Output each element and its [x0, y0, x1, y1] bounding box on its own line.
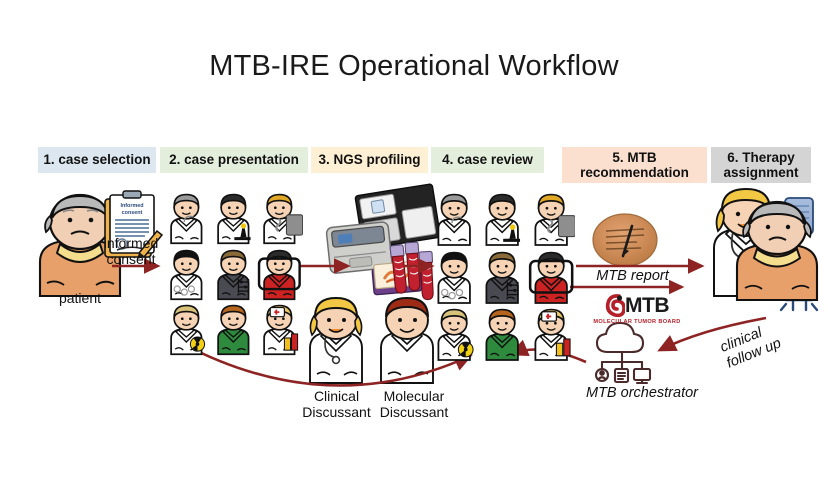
molecular-discussant-icon — [381, 298, 433, 383]
tumor-board-member-nurse — [256, 301, 303, 357]
svg-text:consent: consent — [122, 210, 143, 216]
tumor-board-member-telemedicine-clinician — [256, 246, 303, 302]
tumor-board-member — [478, 248, 526, 306]
mtb-orchestrator-label: MTB orchestrator — [562, 385, 722, 402]
tumor-board-member — [527, 305, 575, 363]
tumor-board-member — [478, 190, 526, 248]
tumor-board-member-data-analyst — [478, 248, 526, 306]
tumor-board-member — [430, 305, 478, 363]
clinical-discussant-icon — [310, 298, 362, 383]
tumor-board-member — [256, 246, 303, 302]
tumor-board-member — [210, 246, 257, 302]
tumor-board-member-nurse — [527, 305, 575, 363]
mtb-logo-mark — [605, 294, 625, 318]
tumor-board-member-microscopist — [478, 190, 526, 248]
mtb-logo-text: MTB — [625, 294, 669, 318]
mtb-logo-subtitle: MOLECULAR TUMOR BOARD — [578, 319, 696, 325]
ngs-sequencer-icon — [326, 184, 440, 300]
tumor-board-member — [430, 190, 478, 248]
tumor-board-member — [210, 301, 257, 357]
tumor-board-member — [527, 248, 575, 306]
tumor-board-member-surgeon — [478, 305, 526, 363]
tumor-board-member-data-analyst — [210, 246, 257, 302]
tumor-board-member-geneticist — [256, 190, 303, 246]
molecular-discussant-label: Molecular Discussant — [366, 388, 462, 420]
tumor-board-member — [478, 305, 526, 363]
tumor-board-member-geneticist — [527, 190, 575, 248]
tumor-board-member — [430, 248, 478, 306]
tumor-board-grid-case-review — [430, 190, 575, 320]
tumor-board-member-microscopist — [210, 190, 257, 246]
workflow-diagram: MTB-IRE Operational Workflow 1. case sel… — [0, 0, 828, 481]
informed-consent-label: informed consent — [86, 236, 176, 267]
tumor-board-member-senior-pathologist — [430, 190, 478, 248]
tumor-board-member-lab-scientist — [430, 248, 478, 306]
tumor-board-member — [256, 190, 303, 246]
tumor-board-member-telemedicine-clinician — [527, 248, 575, 306]
tumor-board-member — [256, 301, 303, 357]
patient-label: patient — [34, 290, 126, 306]
tumor-board-member-surgeon — [210, 301, 257, 357]
tumor-board-grid-case-presentation — [163, 190, 303, 315]
tumor-board-member-radiation-oncologist — [430, 305, 478, 363]
svg-text:Informed: Informed — [120, 203, 143, 209]
mtb-report-label: MTB report — [580, 268, 685, 285]
tumor-board-member — [163, 301, 210, 357]
cloud-orchestrator-icon — [596, 323, 650, 383]
signed-report-icon — [593, 214, 657, 266]
tumor-board-member — [210, 190, 257, 246]
tumor-board-member — [527, 190, 575, 248]
tumor-board-member-radiation-oncologist — [163, 301, 210, 357]
mtb-logo: MTB MOLECULAR TUMOR BOARD — [578, 294, 696, 325]
